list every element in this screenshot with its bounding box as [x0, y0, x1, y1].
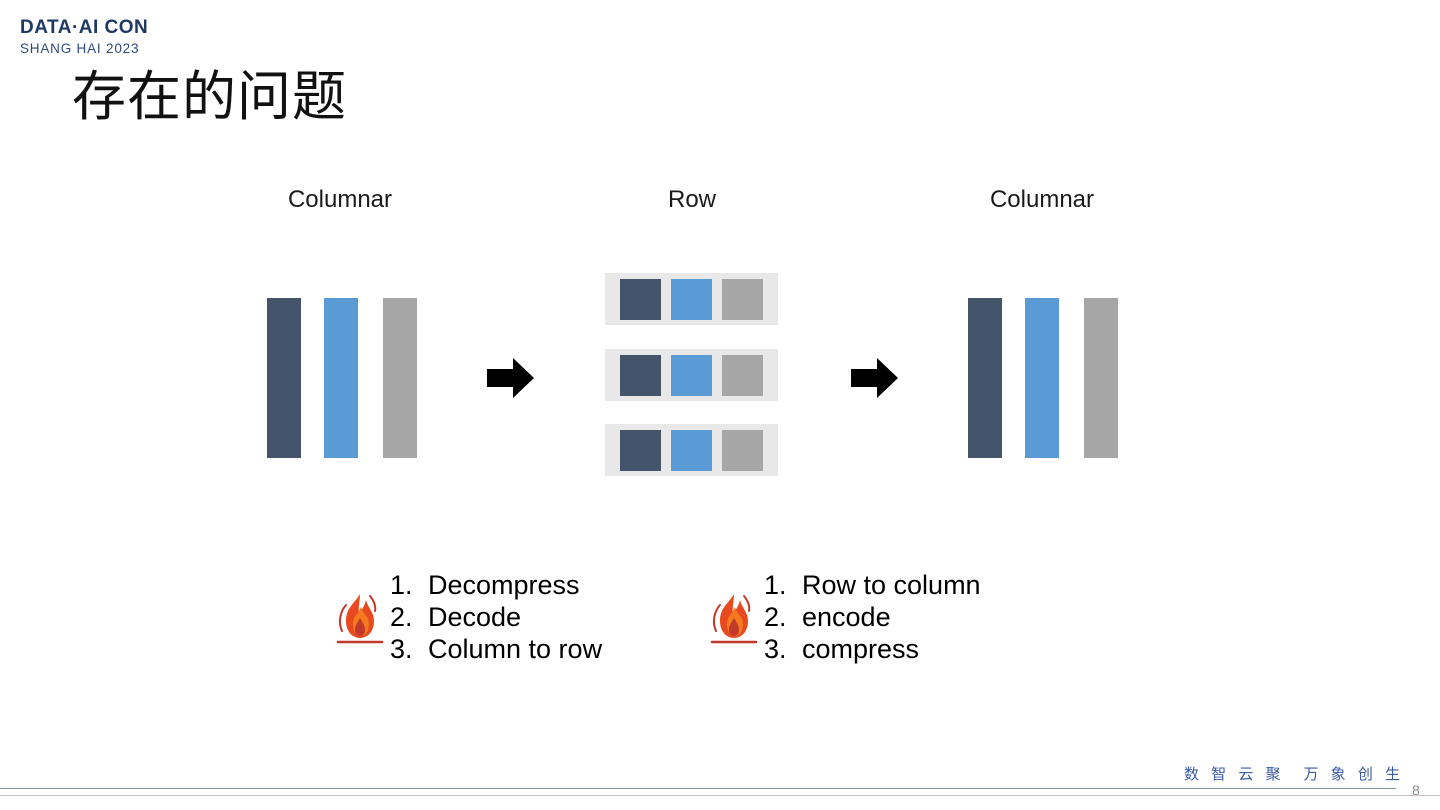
cell-gray	[722, 430, 763, 471]
slide-canvas: DATA·AI CON SHANG HAI 2023 存在的问题 Columna…	[0, 0, 1440, 810]
step-number: 2.	[390, 602, 428, 634]
step-number: 1.	[764, 570, 802, 602]
cell-dark-blue	[620, 279, 661, 320]
step-text: Row to column	[802, 570, 981, 602]
row-block	[605, 273, 778, 325]
cell-gray	[722, 279, 763, 320]
logo-title: DATA·AI CON	[20, 18, 148, 37]
list-item: 3. compress	[764, 634, 981, 666]
group-label-row: Row	[592, 186, 792, 214]
cell-light-blue	[671, 430, 712, 471]
logo-subtitle: SHANG HAI 2023	[20, 42, 148, 56]
cell-dark-blue	[620, 430, 661, 471]
steps-list-left: 1. Decompress 2. Decode 3. Column to row	[390, 570, 602, 666]
group-label-columnar-left: Columnar	[240, 186, 440, 214]
step-number: 3.	[390, 634, 428, 666]
step-number: 1.	[390, 570, 428, 602]
row-block	[605, 349, 778, 401]
step-text: Column to row	[428, 634, 602, 666]
cell-light-blue	[671, 279, 712, 320]
step-number: 3.	[764, 634, 802, 666]
columnar-group-right	[968, 298, 1118, 458]
step-text: Decompress	[428, 570, 580, 602]
step-text: compress	[802, 634, 919, 666]
list-item: 1. Row to column	[764, 570, 981, 602]
cell-light-blue	[671, 355, 712, 396]
bar-light-blue	[1025, 298, 1059, 458]
step-text: Decode	[428, 602, 521, 634]
page-number: 8	[1412, 782, 1420, 798]
page-title: 存在的问题	[72, 68, 347, 127]
arrow-columnar-to-row-icon	[487, 357, 535, 399]
list-item: 2. Decode	[390, 602, 602, 634]
arrow-row-to-columnar-icon	[851, 357, 899, 399]
cell-dark-blue	[620, 355, 661, 396]
bar-gray	[383, 298, 417, 458]
bar-gray	[1084, 298, 1118, 458]
conference-logo: DATA·AI CON SHANG HAI 2023	[20, 18, 148, 56]
bar-dark-blue	[968, 298, 1002, 458]
steps-block-left: 1. Decompress 2. Decode 3. Column to row	[334, 570, 602, 666]
list-item: 1. Decompress	[390, 570, 602, 602]
columnar-group-left	[267, 298, 417, 458]
group-label-columnar-right: Columnar	[942, 186, 1142, 214]
steps-block-right: 1. Row to column 2. encode 3. compress	[708, 570, 981, 666]
footer-divider-top	[0, 788, 1396, 789]
bar-light-blue	[324, 298, 358, 458]
flame-icon	[708, 590, 760, 646]
flame-icon	[334, 590, 386, 646]
steps-list-right: 1. Row to column 2. encode 3. compress	[764, 570, 981, 666]
bar-dark-blue	[267, 298, 301, 458]
footer-slogan: 数 智 云 聚 万 象 创 生	[1184, 763, 1404, 784]
step-text: encode	[802, 602, 891, 634]
list-item: 2. encode	[764, 602, 981, 634]
row-block	[605, 424, 778, 476]
cell-gray	[722, 355, 763, 396]
footer-divider-bottom	[0, 795, 1440, 796]
step-number: 2.	[764, 602, 802, 634]
list-item: 3. Column to row	[390, 634, 602, 666]
